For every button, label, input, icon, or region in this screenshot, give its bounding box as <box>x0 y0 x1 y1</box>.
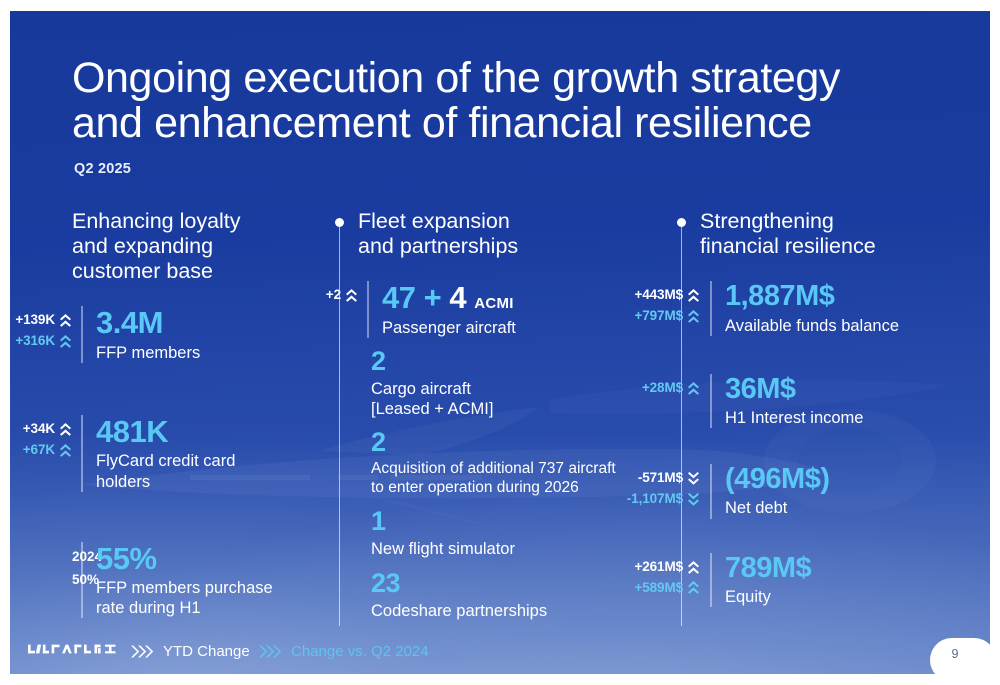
value-accent: 47 + <box>382 280 449 315</box>
column-financial: Strengthening financial resilience +443M… <box>700 209 970 607</box>
chevron-up-icon <box>687 580 700 595</box>
item-caption: Codeshare partnerships <box>371 601 668 621</box>
stat-body: 36M$ H1 Interest income <box>710 374 863 428</box>
heading-line: Enhancing loyalty <box>72 209 340 234</box>
caption-line: FlyCard credit card <box>96 451 235 471</box>
delta-vs-value: +316K <box>15 331 55 352</box>
heading-line: Strengthening <box>700 209 970 234</box>
item-value: 2 <box>371 428 668 457</box>
stat-body: 481K FlyCard credit card holders <box>81 415 235 492</box>
column-fleet: Fleet expansion and partnerships +2 47 +… <box>358 209 668 621</box>
stat-body: (496M$) Net debt <box>710 464 830 518</box>
delta-group: +2 <box>358 281 367 306</box>
chevron-up-icon <box>687 309 700 324</box>
heading-line: and expanding <box>72 234 340 259</box>
chevron-up-icon <box>687 560 700 575</box>
stat-caption: FlyCard credit card holders <box>96 451 235 491</box>
delta-ytd-value: +34K <box>23 419 55 440</box>
delta-ytd-value: +2 <box>326 285 341 306</box>
stat-value: 481K <box>96 415 235 448</box>
delta-vs-value: -1,107M$ <box>627 489 683 510</box>
fleet-item-codeshare: 23 Codeshare partnerships <box>358 569 668 621</box>
delta-ytd-value: +443M$ <box>634 285 683 306</box>
column-heading-fleet: Fleet expansion and partnerships <box>358 209 668 259</box>
stat-body: 3.4M FFP members <box>81 306 200 363</box>
stat-body: 55% FFP members purchase rate during H1 <box>81 542 273 619</box>
item-value: 2 <box>371 347 668 376</box>
stat-caption: Net debt <box>725 498 830 518</box>
delta-vs-value: +797M$ <box>634 306 683 327</box>
delta-group: +443M$ +797M$ <box>700 281 710 327</box>
chevron-up-icon <box>59 313 72 328</box>
stat-caption: Passenger aircraft <box>382 318 516 338</box>
column-heading-financial: Strengthening financial resilience <box>700 209 970 259</box>
stat-body: 789M$ Equity <box>710 553 811 607</box>
delta-ytd-value: -571M$ <box>638 468 683 489</box>
stat-caption: H1 Interest income <box>725 408 863 428</box>
chevron-down-icon <box>687 492 700 507</box>
fleet-item-simulator: 1 New flight simulator <box>358 507 668 559</box>
fleet-item-cargo: 2 Cargo aircraft [Leased + ACMI] <box>358 347 668 419</box>
caption-line: to enter operation during 2026 <box>371 479 668 498</box>
delta-group: +34K +67K <box>72 415 81 461</box>
fleet-item-737-acquisition: 2 Acquisition of additional 737 aircraft… <box>358 428 668 498</box>
stat-value: 1,887M$ <box>725 281 899 312</box>
delta-ytd-value: +139K <box>15 310 55 331</box>
footer: YTD Change Change vs. Q2 2024 9 <box>10 630 990 674</box>
legend-vs-label: Change vs. Q2 2024 <box>291 643 429 660</box>
stat-body: 47 + 4 ACMI Passenger aircraft <box>367 281 516 338</box>
stat-value: (496M$) <box>725 464 830 495</box>
stat-value: 789M$ <box>725 553 811 584</box>
legend-ytd-label: YTD Change <box>163 643 250 660</box>
chevron-up-icon <box>59 422 72 437</box>
stat-caption: Equity <box>725 587 811 607</box>
stat-value: 3.4M <box>96 306 200 339</box>
delta-vs-value: +67K <box>23 440 55 461</box>
stat-flycard-holders: +34K +67K 481K FlyCard credit card holde… <box>72 415 340 492</box>
page-subtitle: Q2 2025 <box>74 161 131 177</box>
stat-ffp-purchase-rate: 2024 50% 55% FFP members purchase rate d… <box>72 542 340 619</box>
delta-group: -571M$ -1,107M$ <box>700 464 710 510</box>
slide: Ongoing execution of the growth strategy… <box>10 11 990 674</box>
item-caption: New flight simulator <box>371 539 668 559</box>
legend-vs-q2-change: Change vs. Q2 2024 <box>258 643 429 660</box>
delta-vs-value: +589M$ <box>634 578 683 599</box>
caption-line: Cargo aircraft <box>371 379 668 399</box>
delta-group: +28M$ <box>700 374 710 399</box>
page-number: 9 <box>952 647 959 661</box>
stat-available-funds: +443M$ +797M$ 1,887M$ Available funds ba… <box>700 281 970 335</box>
item-caption: Acquisition of additional 737 aircraft t… <box>371 460 668 498</box>
elal-logo <box>28 642 133 656</box>
title-line-1: Ongoing execution of the growth strategy <box>72 56 952 101</box>
chevron-up-icon <box>59 443 72 458</box>
chevron-up-icon <box>345 288 358 303</box>
stat-value: 36M$ <box>725 374 863 405</box>
stat-caption: FFP members purchase rate during H1 <box>96 578 273 618</box>
chevron-down-icon <box>687 471 700 486</box>
column-heading-loyalty: Enhancing loyalty and expanding customer… <box>72 209 340 284</box>
stat-passenger-aircraft: +2 47 + 4 ACMI Passenger aircraft <box>358 281 668 338</box>
chevron-right-triple-icon <box>130 644 154 659</box>
stat-value: 55% <box>96 542 273 575</box>
stat-interest-income: +28M$ 36M$ H1 Interest income <box>700 374 970 428</box>
stat-body: 1,887M$ Available funds balance <box>710 281 899 335</box>
stat-equity: +261M$ +589M$ 789M$ Equity <box>700 553 970 607</box>
heading-line: Fleet expansion <box>358 209 668 234</box>
heading-line: and partnerships <box>358 234 668 259</box>
column-loyalty: Enhancing loyalty and expanding customer… <box>72 209 340 618</box>
value-suffix: ACMI <box>474 295 514 312</box>
page-number-badge: 9 <box>930 638 990 674</box>
stat-caption: FFP members <box>96 343 200 363</box>
item-value: 23 <box>371 569 668 598</box>
delta-ytd-value: +261M$ <box>634 557 683 578</box>
chevron-right-triple-icon <box>258 644 282 659</box>
stat-caption: Available funds balance <box>725 316 899 336</box>
item-caption: Cargo aircraft [Leased + ACMI] <box>371 379 668 419</box>
title-line-2: and enhancement of financial resilience <box>72 101 952 146</box>
caption-line: holders <box>96 472 235 492</box>
caption-line: Acquisition of additional 737 aircraft <box>371 460 668 479</box>
page-title: Ongoing execution of the growth strategy… <box>72 56 952 146</box>
caption-line: [Leased + ACMI] <box>371 399 668 419</box>
stat-net-debt: -571M$ -1,107M$ (496M$) Net debt <box>700 464 970 518</box>
heading-line: financial resilience <box>700 234 970 259</box>
delta-group: +139K +316K <box>72 306 81 352</box>
heading-line: customer base <box>72 259 340 284</box>
stat-value: 47 + 4 ACMI <box>382 281 516 314</box>
chevron-up-icon <box>687 288 700 303</box>
delta-group: 2024 50% <box>72 542 81 592</box>
legend-ytd-change: YTD Change <box>130 643 250 660</box>
chevron-up-icon <box>687 381 700 396</box>
chevron-up-icon <box>59 334 72 349</box>
value-white: 4 <box>449 280 466 315</box>
delta-group: +261M$ +589M$ <box>700 553 710 599</box>
caption-line: FFP members purchase <box>96 578 273 598</box>
item-value: 1 <box>371 507 668 536</box>
caption-line: rate during H1 <box>96 598 273 618</box>
delta-vs-value: +28M$ <box>642 378 683 399</box>
stat-ffp-members: +139K +316K 3.4M FFP members <box>72 306 340 363</box>
